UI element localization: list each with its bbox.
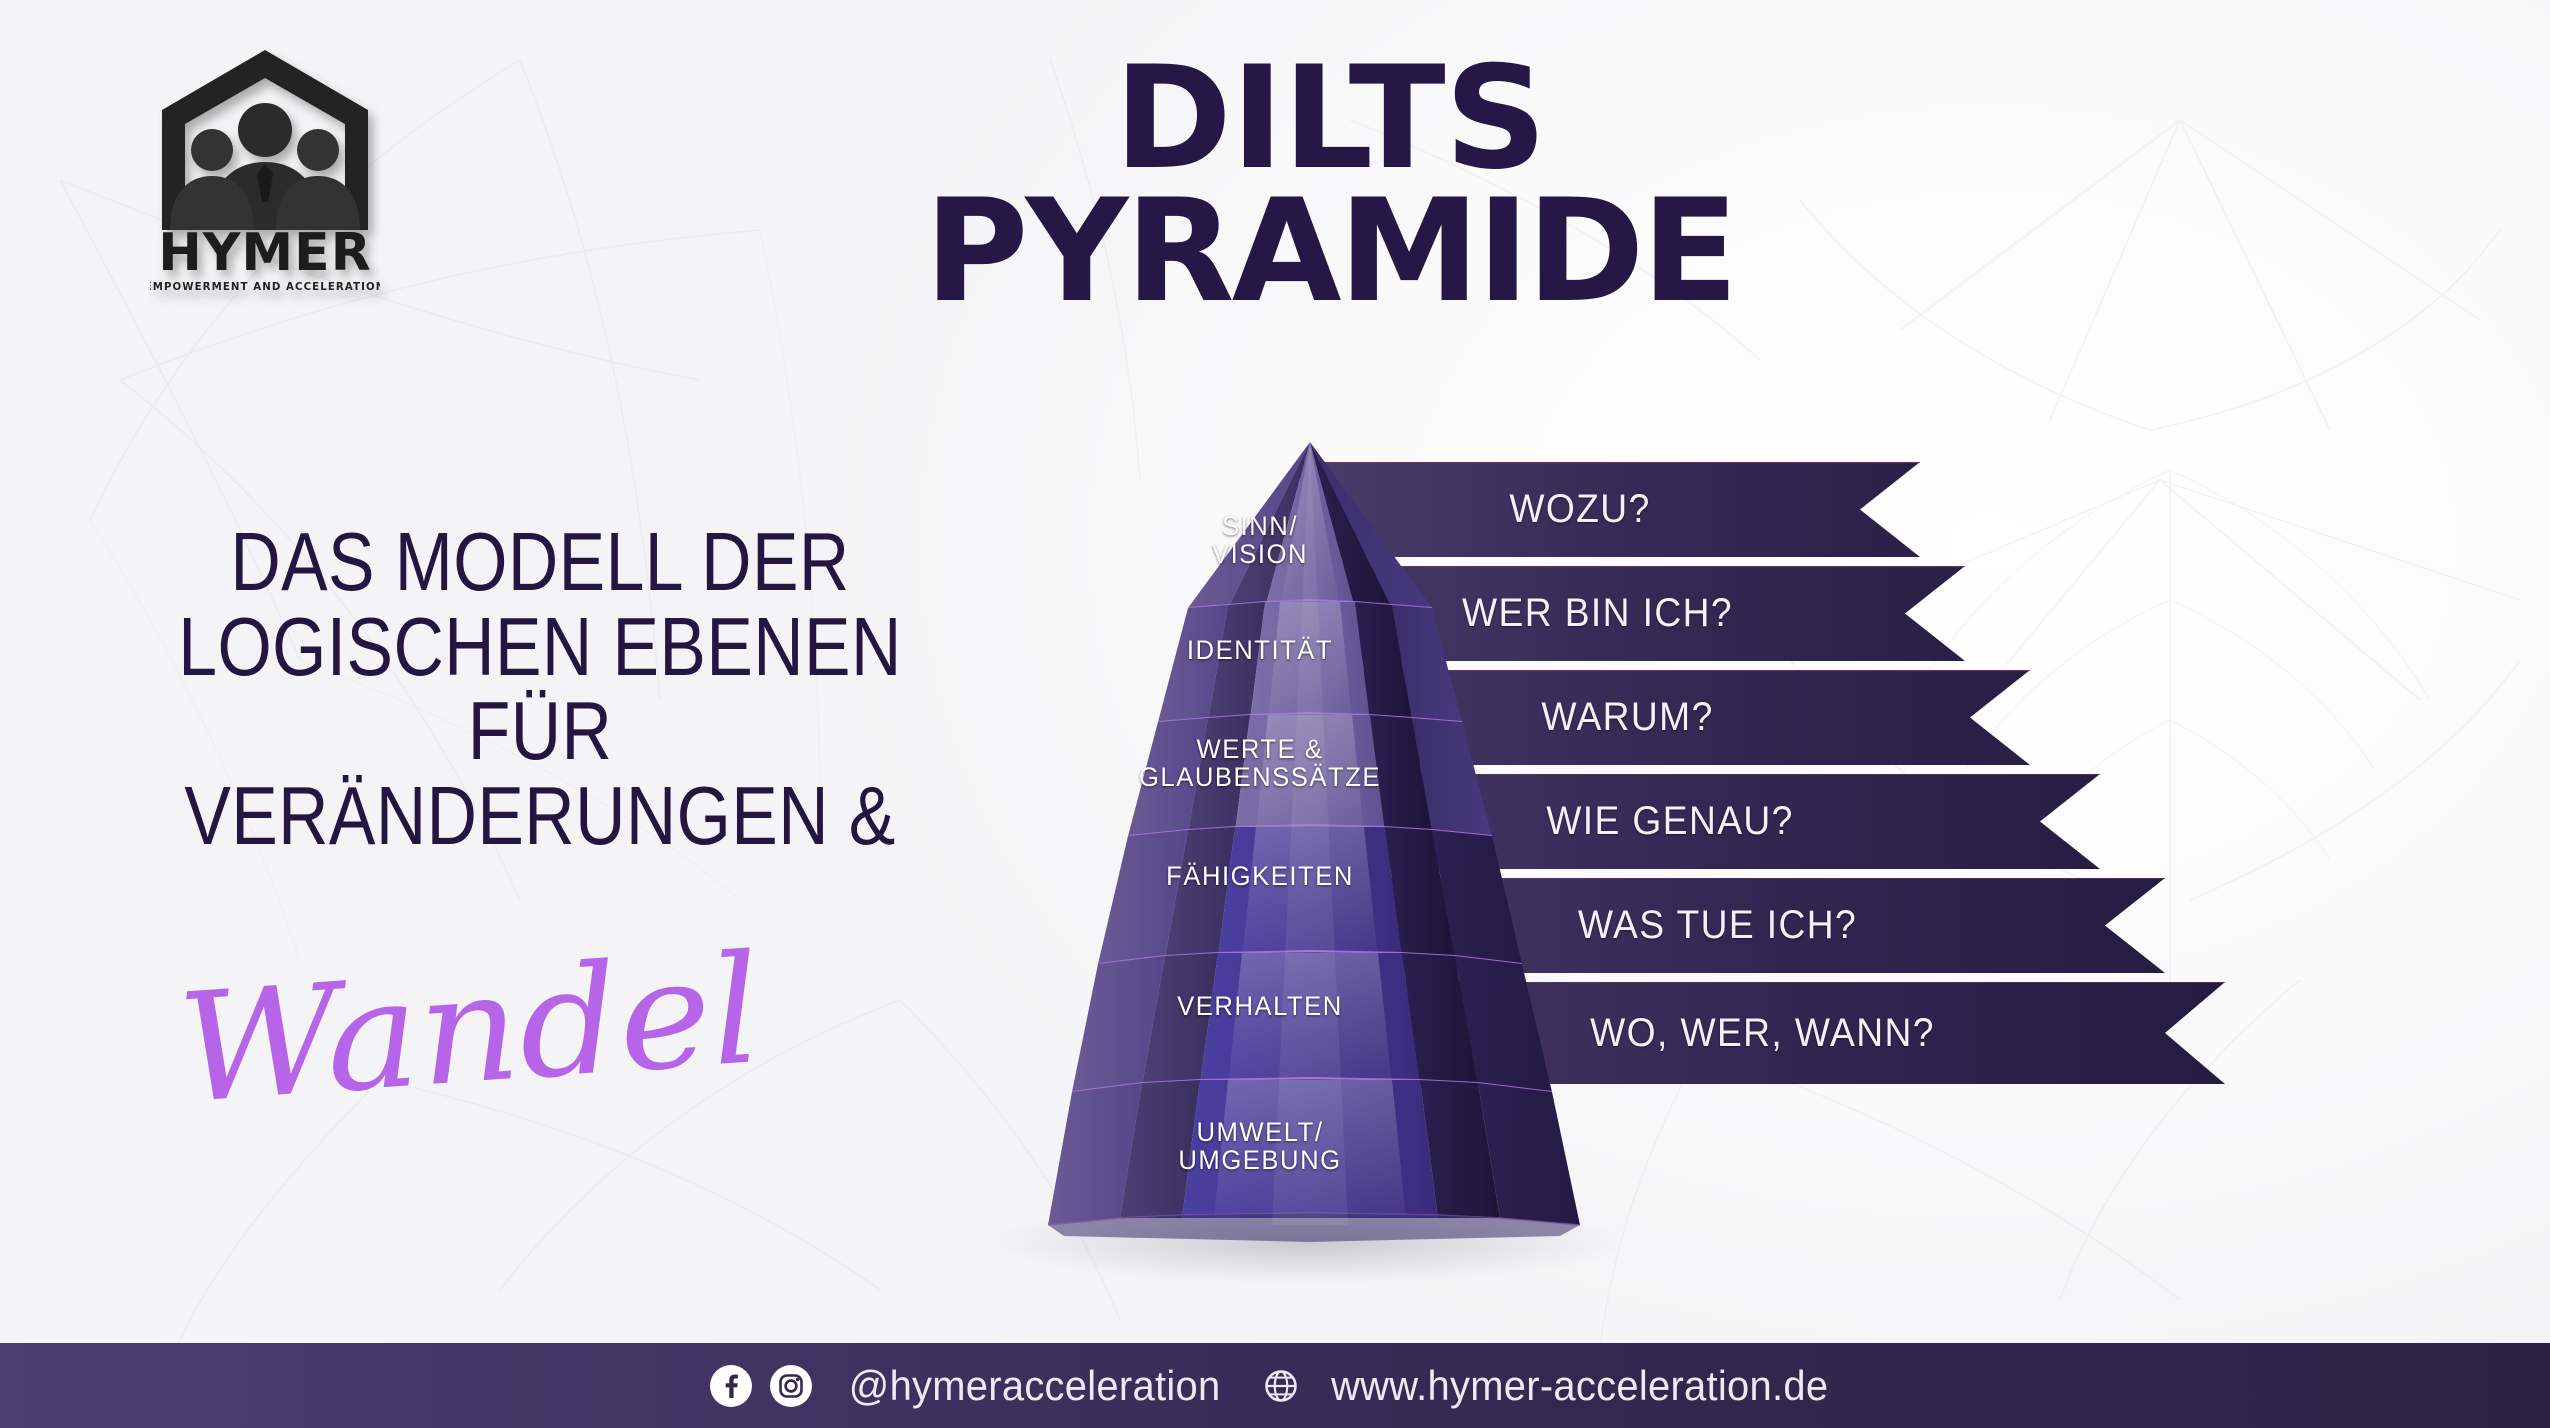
subtitle-line-3: FÜR	[120, 689, 960, 774]
poster-canvas: HYMER EMPOWERMENT AND ACCELERATION DILTS…	[0, 0, 2550, 1428]
globe-icon	[1260, 1365, 1302, 1407]
subtitle-block: DAS MODELL DER LOGISCHEN EBENEN FÜR VERÄ…	[120, 520, 960, 859]
title-line-1: DILTS	[860, 52, 1800, 185]
brand-logo: HYMER EMPOWERMENT AND ACCELERATION	[150, 42, 380, 302]
instagram-icon[interactable]	[769, 1364, 813, 1408]
title-line-2: PYRAMIDE	[860, 185, 1800, 318]
hymer-logo-icon: HYMER EMPOWERMENT AND ACCELERATION	[150, 42, 380, 302]
subtitle-line-2: LOGISCHEN EBENEN	[120, 605, 960, 690]
dilts-pyramid: SINN/ VISION IDENTITÄT WERTE & GLAUBENSS…	[960, 430, 1660, 1270]
pyramid-graphic	[960, 430, 1660, 1270]
logo-brand-text: HYMER	[158, 223, 371, 283]
subtitle-line-1: DAS MODELL DER	[120, 520, 960, 605]
facebook-icon[interactable]	[709, 1364, 753, 1408]
subtitle-line-4: VERÄNDERUNGEN &	[120, 774, 960, 859]
website-url[interactable]: www.hymer-acceleration.de	[1331, 1362, 1828, 1410]
subtitle-script-word: Wandel	[102, 930, 839, 1130]
page-title: DILTS PYRAMIDE	[860, 52, 1800, 319]
footer-bar: @hymeracceleration www.hymer-acceleratio…	[0, 1343, 2550, 1428]
social-handle[interactable]: @hymeracceleration	[848, 1362, 1220, 1410]
logo-tagline-text: EMPOWERMENT AND ACCELERATION	[150, 282, 380, 293]
